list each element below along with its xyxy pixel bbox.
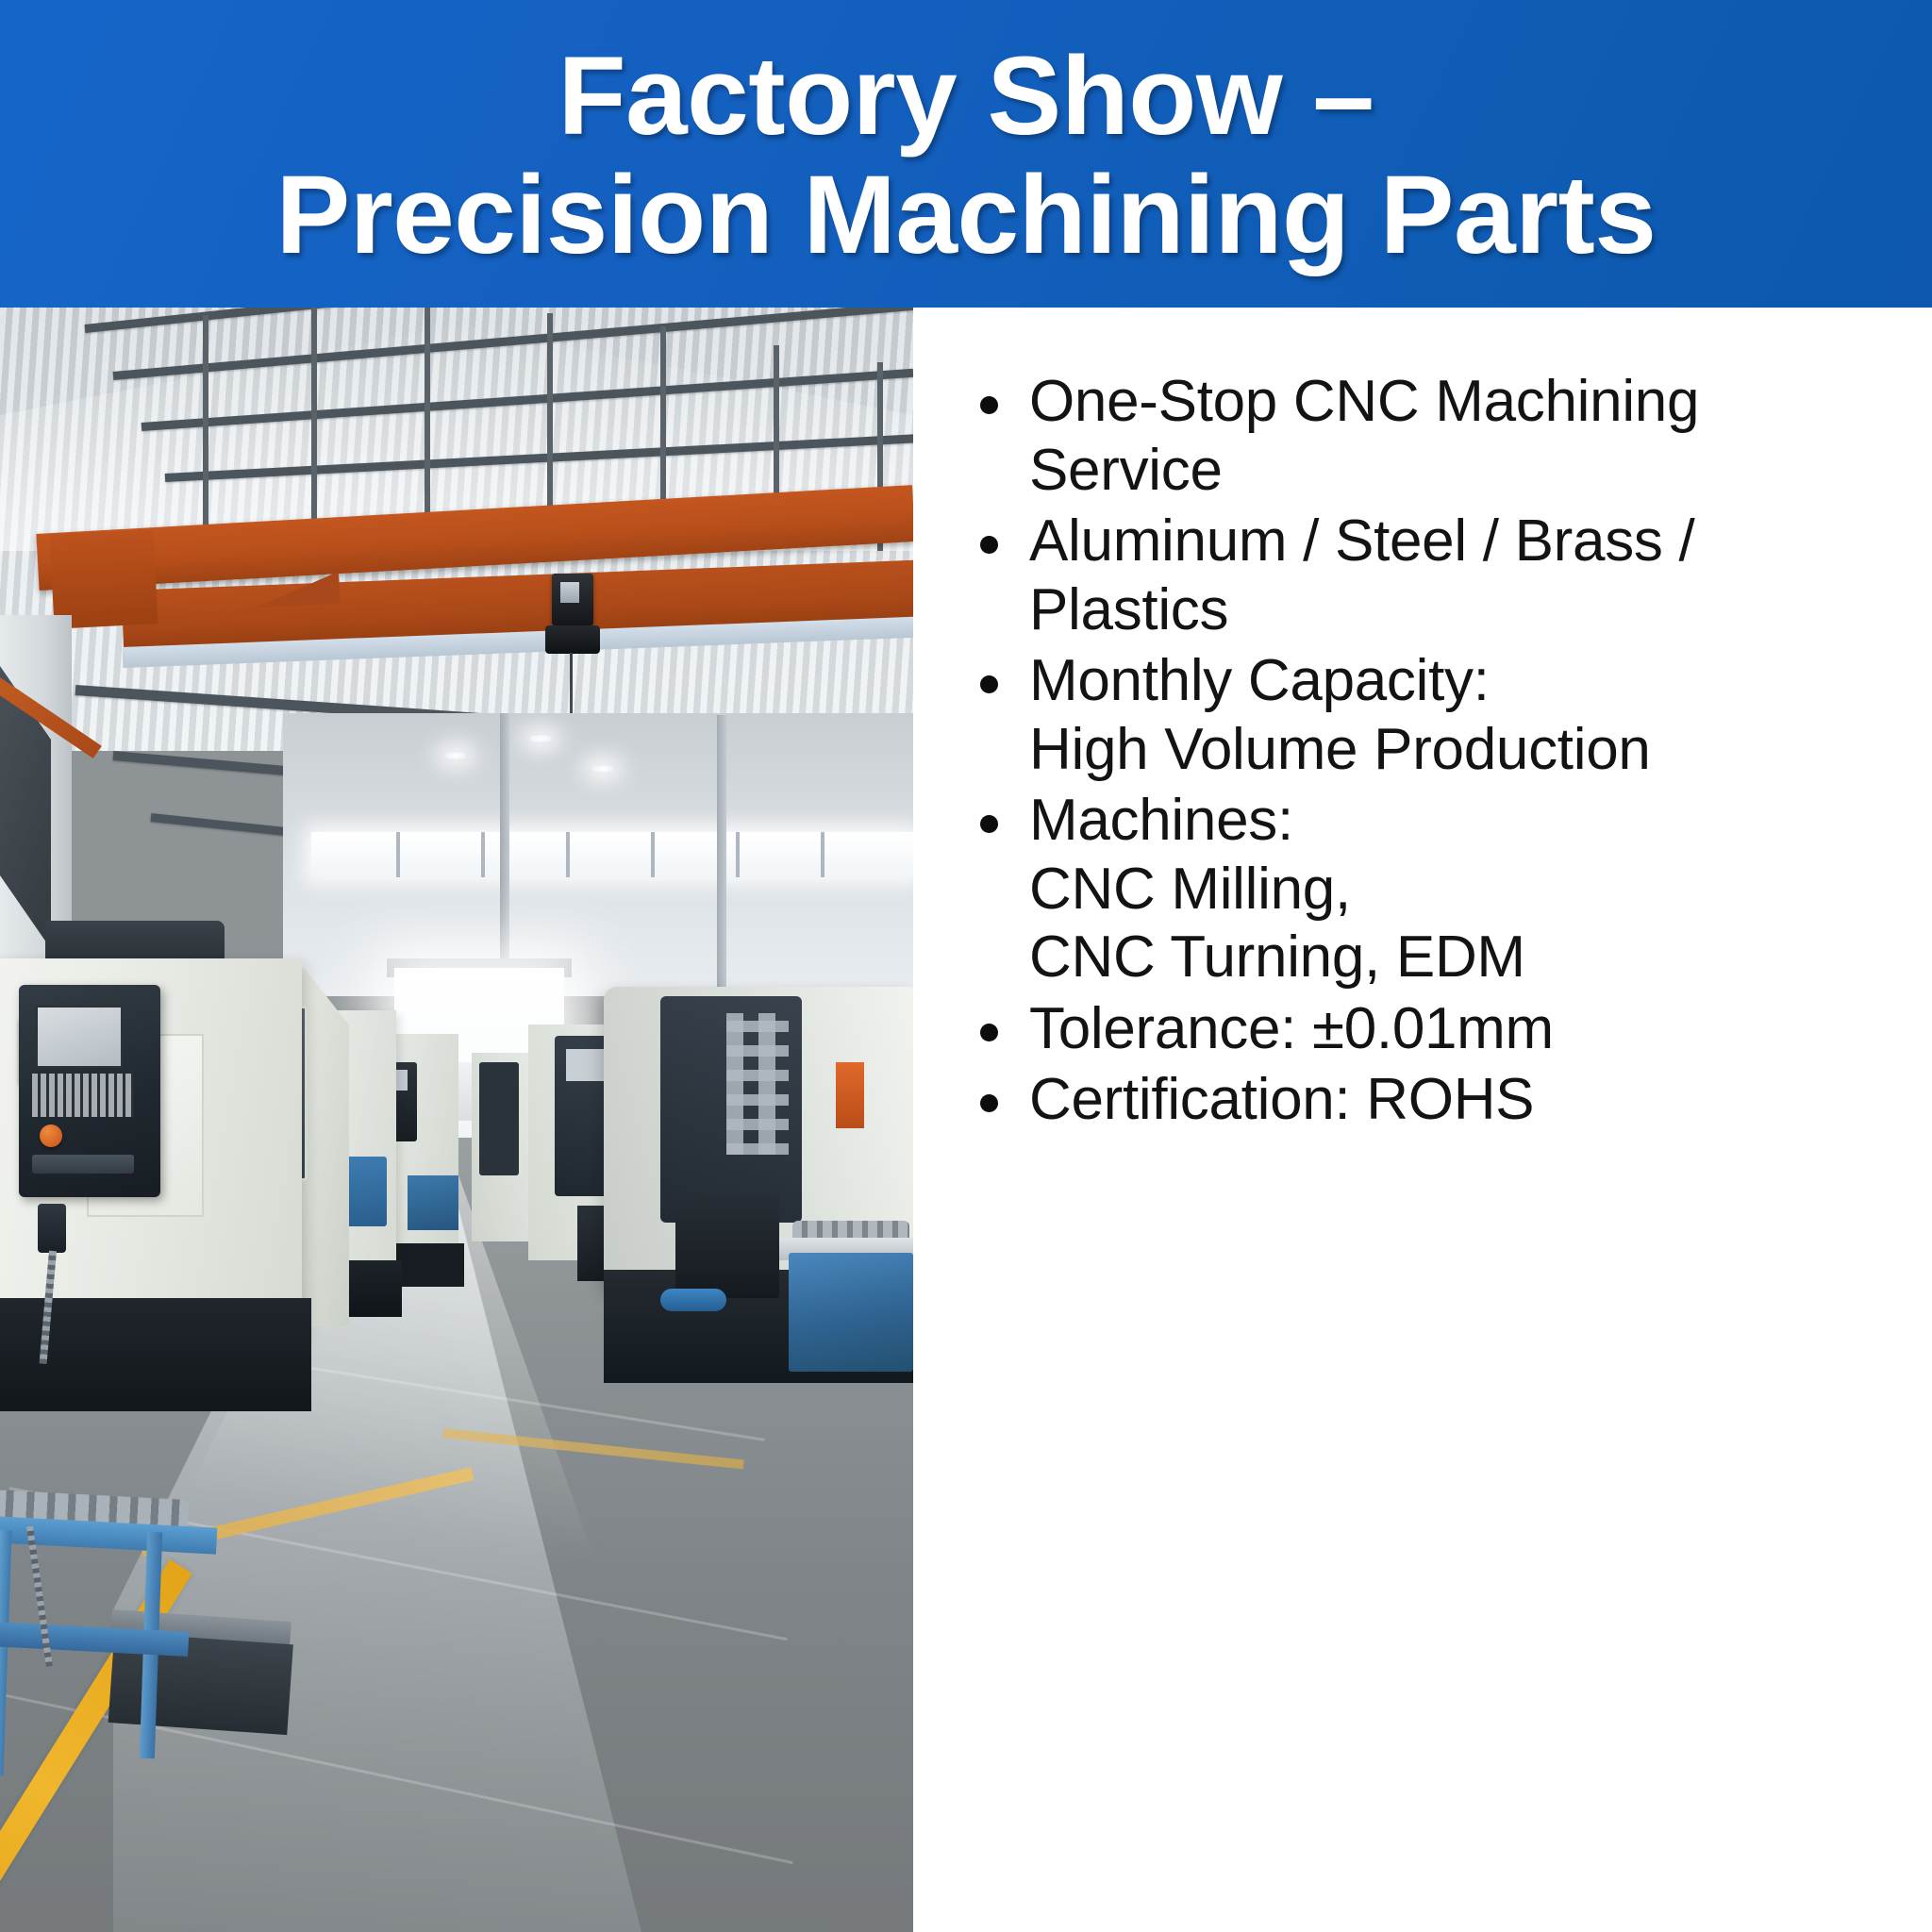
parts-cart	[789, 1253, 913, 1372]
wall-column	[500, 713, 509, 996]
title-line-1: Factory Show –	[558, 34, 1374, 158]
chip-cart	[675, 1194, 779, 1298]
page-title: Factory Show – Precision Machining Parts	[239, 37, 1694, 275]
spec-item-machines: Machines: CNC Milling, CNC Turning, EDM	[976, 787, 1894, 992]
specs-bullet-list: One-Stop CNC Machining Service Aluminum …	[913, 308, 1932, 1135]
spec-item-capacity: Monthly Capacity: High Volume Production	[976, 647, 1894, 784]
window-mullion	[396, 832, 400, 877]
emergency-stop-button	[40, 1124, 62, 1147]
window-mullion	[736, 832, 740, 877]
specs-panel: One-Stop CNC Machining Service Aluminum …	[913, 308, 1932, 1932]
header-banner: Factory Show – Precision Machining Parts	[0, 0, 1932, 308]
ceiling-lamp	[443, 751, 468, 760]
spec-item-service: One-Stop CNC Machining Service	[976, 368, 1894, 505]
spec-item-certification: Certification: ROHS	[976, 1066, 1894, 1135]
ceiling-lamp	[528, 734, 553, 743]
title-line-2: Precision Machining Parts	[276, 156, 1657, 275]
window-mullion	[566, 832, 570, 877]
product-showcase-poster: Factory Show – Precision Machining Parts	[0, 0, 1932, 1932]
pendant-controller	[38, 1204, 66, 1253]
spec-item-materials: Aluminum / Steel / Brass / Plastics	[976, 508, 1894, 644]
roof-strut	[203, 315, 208, 541]
window-mullion	[821, 832, 824, 877]
lathe-control-screen	[566, 1049, 608, 1081]
lathe-keypad	[726, 1013, 789, 1155]
cnc-display-screen	[36, 1006, 123, 1068]
coolant-tank	[408, 1175, 458, 1230]
window-mullion	[651, 832, 655, 877]
lathe-enclosure	[479, 1062, 519, 1175]
spec-item-tolerance: Tolerance: ±0.01mm	[976, 995, 1894, 1064]
crane-end-carriage	[49, 529, 158, 629]
hoist-indicator	[560, 582, 579, 603]
hoist-motor	[545, 625, 600, 654]
factory-photo	[0, 308, 913, 1932]
cnc-panel-tray	[32, 1155, 134, 1174]
roof-strut	[311, 308, 317, 543]
roof-strut	[425, 308, 430, 543]
cnc-keypad	[32, 1074, 134, 1117]
window-mullion	[481, 832, 485, 877]
wall-column	[717, 715, 726, 994]
ceiling-lamp	[591, 764, 615, 774]
machine-accent-panel	[836, 1062, 864, 1128]
coolant-drum	[660, 1289, 726, 1311]
